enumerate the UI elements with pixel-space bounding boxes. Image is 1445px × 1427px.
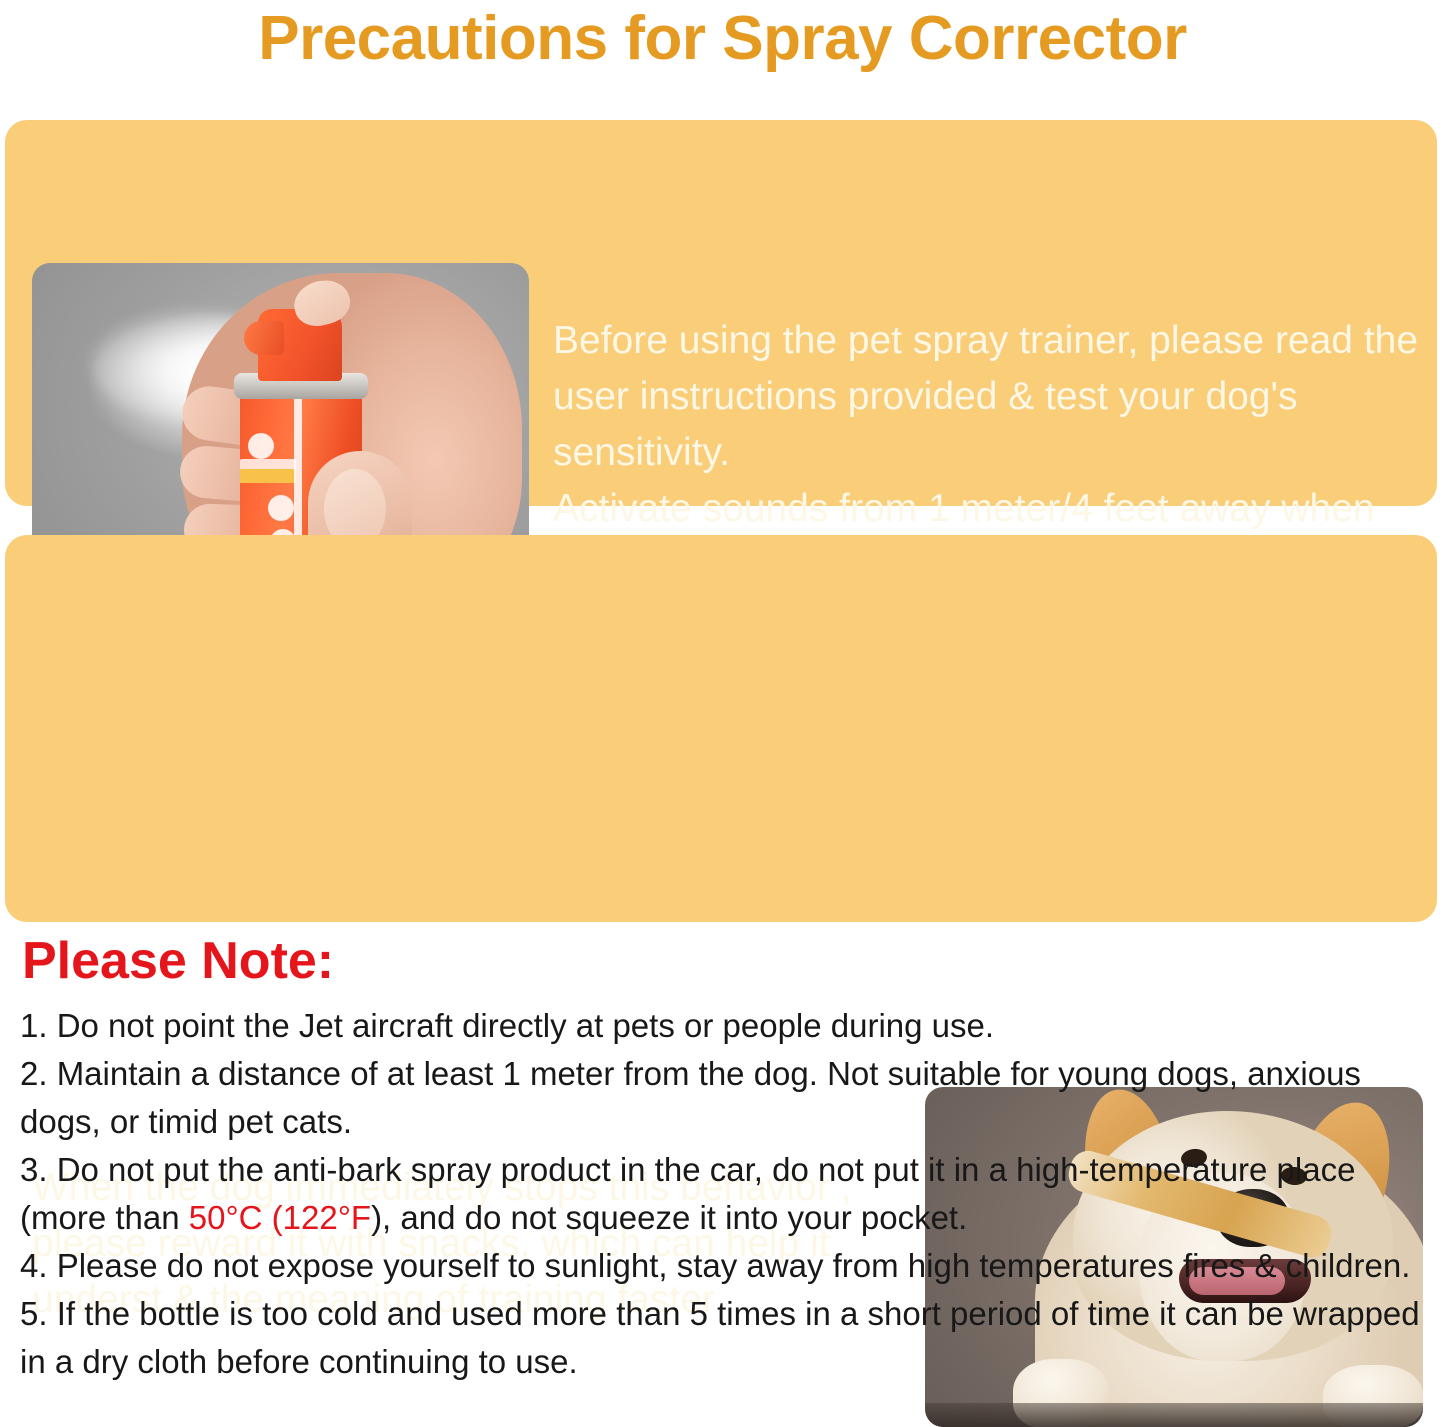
spray-can-warning-icon bbox=[248, 433, 274, 459]
please-note-heading: Please Note: bbox=[22, 930, 334, 992]
note-item-2: 2. Maintain a distance of at least 1 met… bbox=[20, 1050, 1430, 1146]
precaution-card-1: Before using the pet spray trainer, plea… bbox=[5, 120, 1437, 506]
note-item-3: 3. Do not put the anti-bark spray produc… bbox=[20, 1146, 1430, 1242]
note-item-3-suffix: ), and do not squeeze it into your pocke… bbox=[371, 1199, 967, 1236]
note-item-1: 1. Do not point the Jet aircraft directl… bbox=[20, 1002, 1430, 1050]
note-list: 1. Do not point the Jet aircraft directl… bbox=[20, 1002, 1430, 1386]
note-item-4: 4. Please do not expose yourself to sunl… bbox=[20, 1242, 1430, 1290]
precaution-card-2: When the dog immediately stops this beha… bbox=[5, 535, 1437, 922]
spray-can-warning-icon bbox=[268, 495, 294, 521]
page-title: Precautions for Spray Corrector bbox=[0, 2, 1445, 76]
spray-can-spout-graphic bbox=[244, 321, 284, 355]
infographic-page: Precautions for Spray Corrector Before u… bbox=[0, 0, 1445, 1407]
spray-can-label-accent-graphic bbox=[240, 469, 296, 483]
note-item-5: 5. If the bottle is too cold and used mo… bbox=[20, 1290, 1430, 1386]
note-item-3-temperature-highlight: 50°C (122°F bbox=[189, 1199, 371, 1236]
